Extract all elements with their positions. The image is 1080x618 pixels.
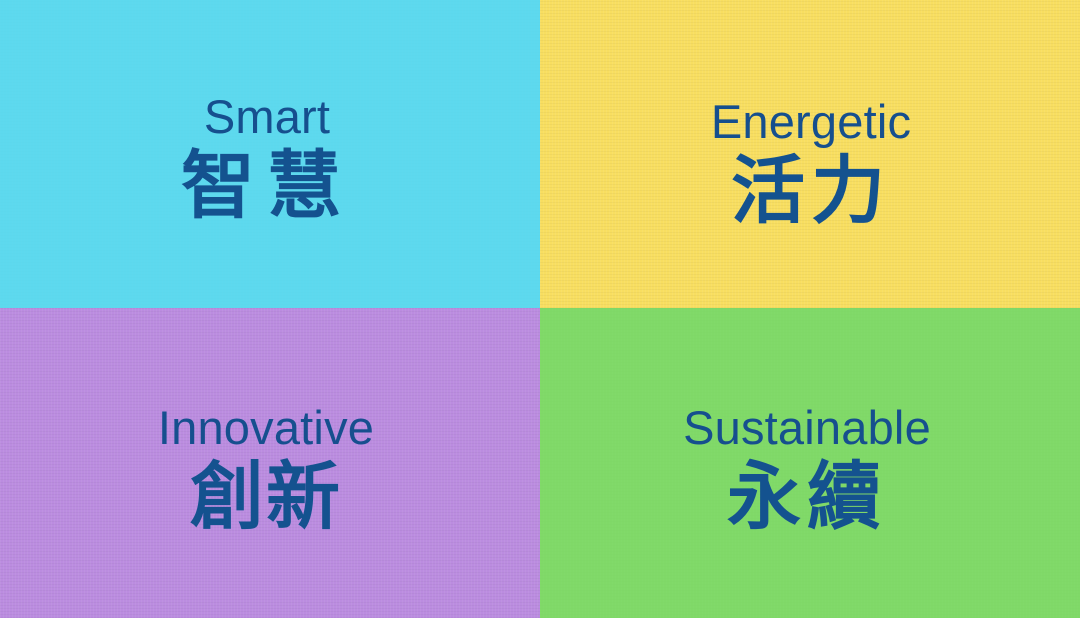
brand-values-poster: Smart 智慧 Energetic 活力 Innovative 創新 Sust…: [0, 0, 1080, 618]
quadrant-energetic-label-zh: 活力: [711, 150, 911, 233]
quadrant-energetic-text-block: Energetic 活力: [711, 98, 911, 233]
quadrant-sustainable: Sustainable 永續: [540, 308, 1080, 618]
quadrant-innovative-label-en: Innovative: [158, 404, 374, 452]
quadrant-smart-label-zh: 智慧: [181, 145, 353, 228]
quadrant-innovative-label-zh: 創新: [158, 456, 374, 539]
quadrant-sustainable-text-block: Sustainable 永續: [683, 404, 931, 539]
quadrant-smart-text-block: Smart 智慧: [181, 93, 353, 228]
quadrant-innovative-text-block: Innovative 創新: [158, 404, 374, 539]
quadrant-energetic-label-en: Energetic: [711, 98, 911, 146]
quadrant-innovative: Innovative 創新: [0, 308, 540, 618]
quadrant-smart-label-en: Smart: [181, 93, 353, 141]
quadrant-sustainable-label-en: Sustainable: [683, 404, 931, 452]
quadrant-sustainable-label-zh: 永續: [683, 456, 931, 539]
quadrant-smart: Smart 智慧: [0, 0, 540, 308]
quadrant-energetic: Energetic 活力: [540, 0, 1080, 308]
